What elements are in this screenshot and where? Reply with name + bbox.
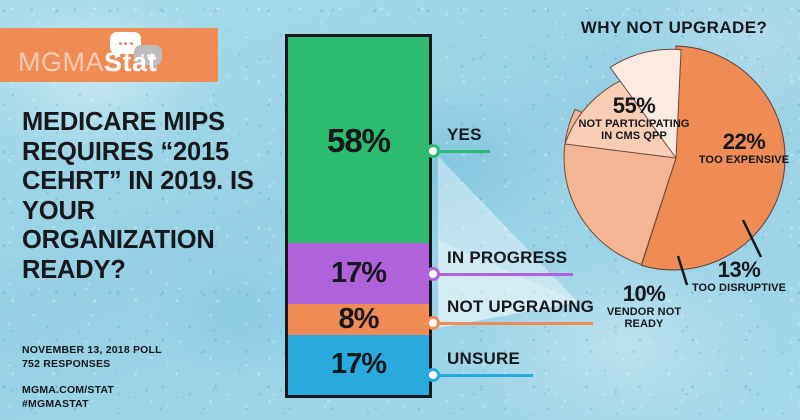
page-title: MEDICARE MIPS REQUIRES “2015 CEHRT” IN 2… bbox=[22, 108, 284, 285]
pie-sub-too-disruptive: TOO DISRUPTIVE bbox=[685, 283, 793, 295]
pie-label-too-expensive: 22% TOO EXPENSIVE bbox=[688, 130, 800, 167]
logo-wordmark: MGMAStat bbox=[18, 49, 157, 76]
bar-value-not-upgrading: 8% bbox=[339, 305, 379, 334]
pie-label-too-disruptive: 13% TOO DISRUPTIVE bbox=[685, 258, 793, 295]
callout-line-not-upgrading bbox=[438, 322, 593, 325]
callout-label-not-upgrading: NOT UPGRADING bbox=[447, 297, 594, 317]
mgma-stat-logo: MGMAStat bbox=[0, 28, 218, 82]
bar-segment-yes[interactable]: 58% bbox=[288, 37, 429, 243]
callout-line-yes bbox=[438, 150, 490, 153]
callout-line-unsure bbox=[438, 374, 533, 377]
source-hashtag: #MGMASTAT bbox=[22, 397, 114, 411]
pie-value-not-participating: 55% bbox=[554, 94, 714, 117]
callout-label-in-progress: IN PROGRESS bbox=[447, 248, 567, 268]
logo-stat-text: Stat bbox=[104, 47, 157, 77]
source-links: MGMA.COM/STAT #MGMASTAT bbox=[22, 383, 114, 411]
bar-value-unsure: 17% bbox=[331, 350, 386, 379]
poll-meta: NOVEMBER 13, 2018 POLL 752 RESPONSES bbox=[22, 343, 162, 371]
logo-mgma-text: MGMA bbox=[18, 47, 104, 77]
poll-responses: 752 RESPONSES bbox=[22, 357, 162, 371]
pie-chart-title: WHY NOT UPGRADE? bbox=[556, 18, 792, 38]
bar-value-yes: 58% bbox=[327, 124, 390, 157]
source-url: MGMA.COM/STAT bbox=[22, 383, 114, 397]
pie-sub-too-expensive: TOO EXPENSIVE bbox=[688, 155, 800, 167]
pie-chart: 55% NOT PARTICIPATING IN CMS QPP 22% TOO… bbox=[560, 42, 792, 274]
callout-label-unsure: UNSURE bbox=[447, 349, 520, 369]
bar-value-in-progress: 17% bbox=[331, 259, 386, 288]
bar-segment-not-upgrading[interactable]: 8% bbox=[288, 304, 429, 335]
pie-value-vendor-not-ready: 10% bbox=[592, 282, 696, 305]
pie-value-too-expensive: 22% bbox=[688, 130, 800, 153]
bar-segment-unsure[interactable]: 17% bbox=[288, 335, 429, 396]
callout-label-yes: YES bbox=[447, 125, 482, 145]
stacked-bar-chart: 58% 17% 8% 17% bbox=[285, 34, 432, 398]
pie-sub-vendor-not-ready-line1: VENDOR NOT bbox=[592, 307, 696, 319]
pie-sub-not-participating-line1: NOT PARTICIPATING bbox=[554, 119, 714, 131]
bar-segment-in-progress[interactable]: 17% bbox=[288, 243, 429, 304]
pie-label-vendor-not-ready: 10% VENDOR NOT READY bbox=[592, 282, 696, 330]
pie-sub-vendor-not-ready-line2: READY bbox=[592, 319, 696, 331]
poll-date: NOVEMBER 13, 2018 POLL bbox=[22, 343, 162, 357]
pie-value-too-disruptive: 13% bbox=[685, 258, 793, 281]
callout-line-in-progress bbox=[438, 273, 573, 276]
infographic-canvas: MGMAStat MEDICARE MIPS REQUIRES “2015 CE… bbox=[0, 0, 800, 420]
